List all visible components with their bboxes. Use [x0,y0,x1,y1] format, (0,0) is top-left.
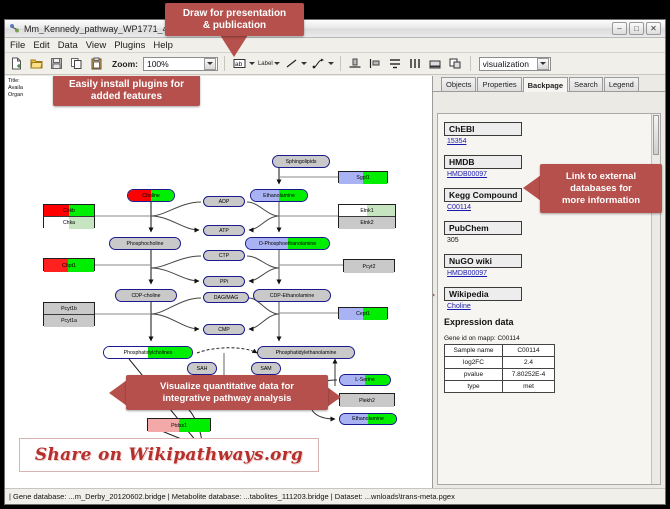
expression-key: log2FC [445,357,503,369]
metabolite-node-ethanolamine-right[interactable]: Ethanolamine [339,413,397,425]
toolbar-separator [470,56,471,71]
copy-icon[interactable] [68,55,85,72]
menu-edit[interactable]: Edit [33,40,49,51]
maximize-button[interactable]: □ [629,22,644,35]
node-label: Phosphatidylcholines [124,350,173,356]
draw-callout-outer: Draw for presentation & publication [165,3,304,36]
node-label: ADP [219,199,230,205]
tab-backpage[interactable]: Backpage [523,77,568,92]
order-icon[interactable] [447,55,464,72]
gene-group-plekha2[interactable]: Plekh2 [339,393,395,406]
gene-label: Etnk2 [360,220,373,226]
metabolite-node-cmp[interactable]: CMP [203,324,245,335]
database-value: 305 [447,237,648,244]
metabolite-node-choline-top[interactable]: Choline [127,189,175,202]
node-label: Choline [142,193,160,199]
gene-node[interactable]: Etnk2 [339,217,395,229]
distribute-vertical-icon[interactable] [387,55,404,72]
gene-group-cept1[interactable]: Cept1 [338,307,388,319]
menu-data[interactable]: Data [58,40,78,51]
database-name: Kegg Compound [444,188,522,202]
gene-node[interactable]: Cept1 [339,308,387,320]
gene-node[interactable]: Pcyt1b [44,303,94,315]
links-callout-arrow [523,175,541,201]
metabolite-node-phosphatidylethanolamine[interactable]: Phosphatidylethanolamine [257,346,355,359]
node-label: Sphingolipids [286,159,317,165]
label-tool[interactable]: Label [258,61,280,67]
node-label: SAH [197,366,208,372]
gene-group-sgpl1[interactable]: Sgpl1 [338,171,388,183]
table-row: pvalue7.80252E-4 [445,369,555,381]
save-icon[interactable] [48,55,65,72]
text-label-tool[interactable]: ab [231,55,255,72]
node-label: DAG/MAG [214,295,239,301]
line-tool-icon[interactable] [283,55,300,72]
gene-label: Plekh2 [359,398,375,404]
gene-node[interactable]: Ptdss1 [148,419,210,432]
gene-label: Etnk1 [360,208,373,214]
expression-pointer-arrow [433,287,435,303]
new-file-icon[interactable] [8,55,25,72]
expression-key: type [445,381,503,393]
gene-group-ptdss1[interactable]: Ptdss1 [147,418,211,431]
database-name: HMDB [444,155,522,169]
links-callout-line1: Link to external [566,171,636,183]
expression-value: 7.80252E-4 [503,369,555,381]
table-row: log2FC2.4 [445,357,555,369]
gene-group-chk[interactable]: ChkbChka [43,204,95,228]
minimize-button[interactable]: – [612,22,627,35]
gene-node[interactable]: Chpt1 [44,259,94,272]
menu-file[interactable]: File [10,40,25,51]
draw-callout-outer-line2: & publication [203,20,266,32]
database-entry: ChEBI15354 [444,119,648,145]
metabolite-node-ppi[interactable]: PPi [203,276,245,287]
chevron-down-icon[interactable] [301,62,307,65]
chevron-down-icon[interactable] [537,58,549,70]
chevron-down-icon[interactable] [274,62,280,65]
visualize-callout-arrow [109,380,127,406]
title-bar: Mm_Kennedy_pathway_WP1771_45176.gpml – □… [5,20,665,38]
node-label: ATP [219,228,229,234]
sidebar-tabs: Objects Properties Backpage Search Legen… [433,77,665,92]
interaction-tool[interactable] [310,55,334,72]
node-label: O-Phosphoethanolamine [259,241,316,247]
gene-group-chpt1[interactable]: Chpt1 [43,258,95,271]
draw-callout-outer-arrow [220,35,248,57]
gene-label: Chka [63,220,75,226]
zoom-combo[interactable]: 100% [143,57,218,71]
zoom-label: Zoom: [112,59,138,69]
gene-label: Pcyt1a [61,318,77,324]
svg-text:ab: ab [235,61,243,68]
links-callout-line3: more information [562,195,640,207]
metabolite-node-sam[interactable]: SAM [251,362,281,375]
open-folder-icon[interactable] [28,55,45,72]
node-label: Ethanolamine [263,193,295,199]
gene-node[interactable]: Sgpl1 [339,172,387,184]
close-button[interactable]: ✕ [646,22,661,35]
distribute-horizontal-icon[interactable] [407,55,424,72]
chevron-down-icon[interactable] [249,62,255,65]
sidebar-scrollbar-thumb[interactable] [653,115,659,155]
expression-table: Sample nameC00114log2FC2.4pvalue7.80252E… [444,344,555,393]
toolbar-separator [224,56,225,71]
gene-node[interactable]: Pcyt2 [344,260,394,273]
node-label: Phosphocholine [127,241,164,247]
plugins-callout-line1: Easily install plugins for [69,79,184,91]
database-name: PubChem [444,221,522,235]
share-banner: Share on Wikipathways.org [19,438,319,472]
metabolite-node-cdp-ethanolamine[interactable]: CDP-Ethanolamine [253,289,331,302]
visualize-callout: Visualize quantitative data for integrat… [126,375,328,410]
visualize-callout-line1: Visualize quantitative data for [160,381,294,393]
interaction-tool-icon[interactable] [310,55,327,72]
metabolite-node-dag-mag[interactable]: DAG/MAG [203,292,249,303]
metabolite-node-atp[interactable]: ATP [203,225,245,236]
chevron-down-icon[interactable] [204,58,216,70]
gene-id-line: Gene id on mapp: C00114 [444,335,648,342]
database-list: ChEBI15354HMDBHMDB00097Kegg CompoundC001… [444,119,648,310]
gene-group-pcyt2[interactable]: Pcyt2 [343,259,395,272]
database-name: Wikipedia [444,287,522,301]
gene-label: Ptdss1 [171,423,187,429]
expression-value: met [503,381,555,393]
gene-label: Chpt1 [62,263,76,269]
expression-value: 2.4 [503,357,555,369]
metabolite-node-l-serine-right[interactable]: L-Serine [339,374,391,386]
node-label: Phosphatidylethanolamine [276,350,337,356]
database-entry: PubChem305 [444,218,648,244]
gene-node[interactable]: Chkb [44,205,94,217]
draw-callout-outer-line1: Draw for presentation [183,8,286,20]
node-label: CTP [219,253,229,259]
database-link[interactable]: HMDB00097 [447,270,648,277]
gene-label: Pcyt1b [61,306,77,312]
expression-key: pvalue [445,369,503,381]
visualization-value: visualization [483,59,537,69]
node-label: PPi [220,279,228,285]
metabolite-node-phosphatidylcholines[interactable]: Phosphatidylcholines [103,346,193,359]
gene-group-etnk[interactable]: Etnk1Etnk2 [338,204,396,228]
expression-data-heading: Expression data [444,317,648,327]
node-label: Ethanolamine [352,416,384,422]
main-body: Title: Availa Organ [5,76,665,488]
metabolite-node-o-phosphoethanolamine[interactable]: O-Phosphoethanolamine [245,237,330,250]
database-name: ChEBI [444,122,522,136]
metabolite-node-sah[interactable]: SAH [187,362,217,375]
metabolite-node-cdp-choline[interactable]: CDP-choline [115,289,177,302]
tab-properties[interactable]: Properties [477,77,521,91]
gene-label: Sgpl1 [356,175,369,181]
tab-legend[interactable]: Legend [604,77,639,91]
share-banner-text: Share on Wikipathways.org [35,445,303,465]
menu-bar: File Edit Data View Plugins Help [5,38,665,53]
plugins-callout: Easily install plugins for added feature… [53,76,200,106]
metabolite-node-sphingolipids[interactable]: Sphingolipids [272,155,330,168]
align-left-icon[interactable] [367,55,384,72]
status-text: | Gene database: ...m_Derby_20120602.bri… [9,492,455,501]
gene-node[interactable]: Pcyt1a [44,315,94,327]
metabolite-node-phosphocholine[interactable]: Phosphocholine [109,237,181,250]
tab-objects[interactable]: Objects [441,77,476,91]
plugins-callout-line2: added features [91,91,162,103]
database-entry: NuGO wikiHMDB00097 [444,251,648,277]
label-tool-label: Label [258,61,273,67]
text-label-icon[interactable]: ab [231,55,248,72]
pathway-canvas[interactable]: Title: Availa Organ [5,76,433,488]
table-row: Sample nameC00114 [445,345,555,357]
node-label: CDP-choline [131,293,160,299]
menu-plugins[interactable]: Plugins [114,40,145,51]
gene-label: Cept1 [356,311,370,317]
toolbar-separator [340,56,341,71]
expression-key: Sample name [445,345,503,357]
line-tool[interactable] [283,55,307,72]
table-row: typemet [445,381,555,393]
metabolite-node-ethanolamine-top[interactable]: Ethanolamine [250,189,308,202]
node-label: CMP [218,327,230,333]
database-name: NuGO wiki [444,254,522,268]
pathvisio-window: Mm_Kennedy_pathway_WP1771_45176.gpml – □… [4,19,666,505]
gene-node[interactable]: Plekh2 [340,394,394,407]
sidebar-panel: Objects Properties Backpage Search Legen… [433,76,665,488]
links-callout-line2: databases for [570,183,632,195]
visualization-combo[interactable]: visualization [479,57,551,71]
node-label: CDP-Ethanolamine [270,293,314,299]
window-buttons: – □ ✕ [612,22,661,35]
paste-icon[interactable] [88,55,105,72]
metabolite-node-ctp[interactable]: CTP [203,250,245,261]
group-icon[interactable] [427,55,444,72]
gene-node[interactable]: Chka [44,217,94,229]
menu-view[interactable]: View [86,40,106,51]
chevron-down-icon[interactable] [328,62,334,65]
toolbar: Zoom: 100% ab Label [5,53,665,75]
expression-value: C00114 [503,345,555,357]
pathvisio-icon [9,23,20,34]
database-link[interactable]: Choline [447,303,648,310]
gene-node[interactable]: Etnk1 [339,205,395,217]
node-label: SAM [260,366,271,372]
metabolite-node-adp[interactable]: ADP [203,196,245,207]
status-bar: | Gene database: ...m_Derby_20120602.bri… [5,488,665,504]
zoom-value: 100% [147,59,204,69]
gene-label: Chkb [63,208,75,214]
visualize-callout-line2: integrative pathway analysis [163,393,292,405]
tab-search[interactable]: Search [569,77,603,91]
database-entry: WikipediaCholine [444,284,648,310]
menu-help[interactable]: Help [153,40,173,51]
align-bottom-icon[interactable] [347,55,364,72]
links-callout: Link to external databases for more info… [540,164,662,213]
gene-label: Pcyt2 [363,264,376,270]
node-label: L-Serine [355,377,375,383]
database-link[interactable]: 15354 [447,138,648,145]
gene-group-pcyt1[interactable]: Pcyt1bPcyt1a [43,302,95,326]
